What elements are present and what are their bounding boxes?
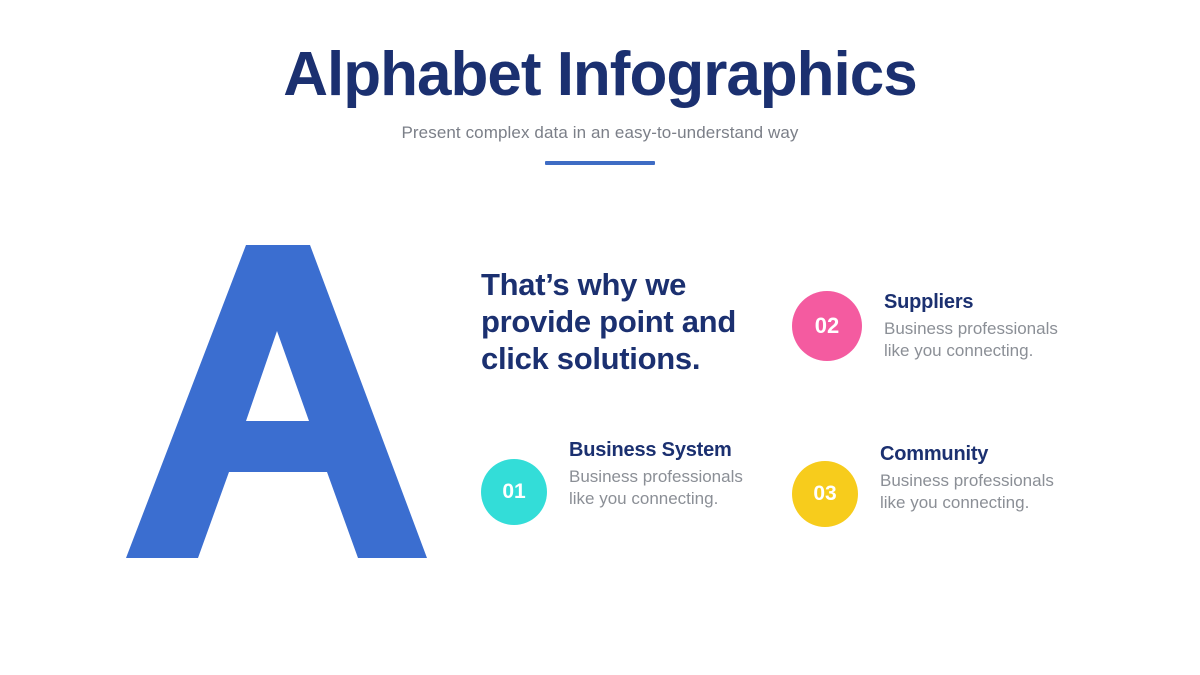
- page-title: Alphabet Infographics: [0, 42, 1200, 109]
- slide-header: Alphabet Infographics Present complex da…: [0, 42, 1200, 165]
- feature-description-02: Business professionals like you connecti…: [884, 318, 1074, 363]
- feature-title-01: Business System: [569, 439, 759, 462]
- feature-number-badge-03: 03: [792, 461, 858, 527]
- feature-text-03: Community Business professionals like yo…: [880, 441, 1070, 515]
- headline-statement: That’s why we provide point and click so…: [481, 266, 761, 378]
- feature-description-03: Business professionals like you connecti…: [880, 470, 1070, 515]
- feature-item-02[interactable]: 02 Suppliers Business professionals like…: [792, 289, 1074, 363]
- feature-title-02: Suppliers: [884, 291, 1074, 314]
- feature-text-02: Suppliers Business professionals like yo…: [884, 289, 1074, 363]
- feature-description-01: Business professionals like you connecti…: [569, 466, 759, 511]
- letter-a-graphic: [108, 238, 438, 568]
- slide-canvas: Alphabet Infographics Present complex da…: [0, 0, 1200, 675]
- feature-title-03: Community: [880, 443, 1070, 466]
- title-underline-rule: [545, 161, 655, 165]
- page-subtitle: Present complex data in an easy-to-under…: [0, 123, 1200, 143]
- feature-item-03[interactable]: 03 Community Business professionals like…: [792, 441, 1070, 527]
- feature-number-badge-01: 01: [481, 459, 547, 525]
- letter-a-icon: [108, 238, 438, 568]
- feature-text-01: Business System Business professionals l…: [569, 437, 759, 511]
- feature-item-01[interactable]: 01 Business System Business professional…: [481, 437, 759, 525]
- feature-number-badge-02: 02: [792, 291, 862, 361]
